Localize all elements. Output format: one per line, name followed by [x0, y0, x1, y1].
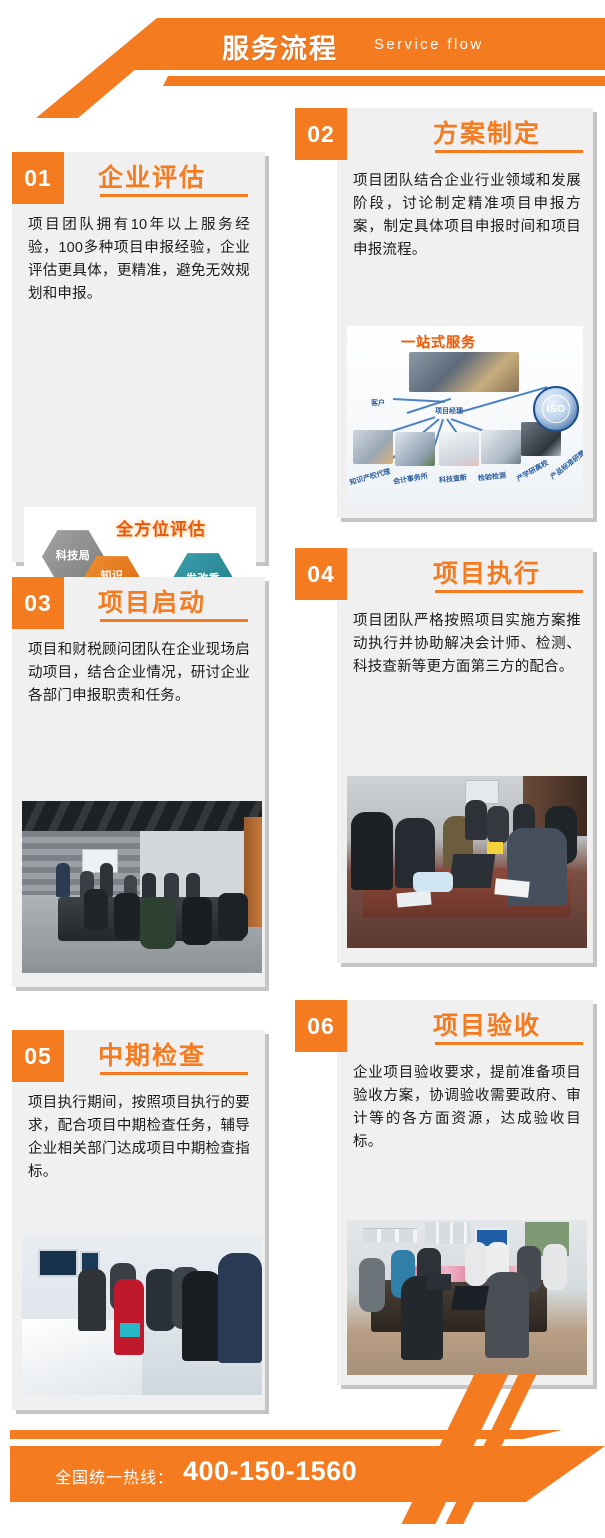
card-description: 项目团队拥有10年以上服务经验，100多种项目申报经验，企业评估更具体，更精准，… [28, 214, 250, 306]
page-footer: 全国统一热线： 400-150-1560 [0, 1406, 605, 1538]
person-foreground [485, 1272, 529, 1358]
card-description: 企业项目验收要求，提前准备项目验收方案，协调验收需要政府、审计等的各方面资源，达… [353, 1062, 581, 1154]
person-silhouette [543, 1244, 567, 1290]
person-black-jacket [182, 1271, 222, 1361]
person-silhouette [142, 873, 156, 899]
person-green-coat [140, 897, 176, 949]
brochure [120, 1323, 140, 1337]
chair [218, 893, 248, 939]
person-silhouette [56, 863, 70, 897]
one-stop-service-diagram: 一站式服务 客户 项目经理 知识产权代理 会计事务所 科技查新 检验检测 产学研… [347, 326, 583, 506]
card-title: 方案制定 [433, 114, 541, 150]
one-stop-node-label-4: 检验检测 [478, 471, 507, 484]
person-blue-jacket [218, 1253, 262, 1363]
chair [84, 889, 108, 931]
person-red-coat [114, 1279, 144, 1355]
paper-sheet [396, 891, 431, 908]
wall-certificates [425, 1222, 471, 1244]
card-title: 项目执行 [433, 554, 541, 590]
title-underline [435, 590, 583, 593]
meeting-laptops-photo [347, 776, 587, 948]
person-silhouette [487, 806, 509, 844]
card-title: 项目启动 [98, 583, 206, 619]
ceiling-pattern [22, 801, 262, 831]
process-card-02: 02 方案制定 项目团队结合企业行业领域和发展阶段，讨论制定精准项目申报方案，制… [337, 108, 593, 518]
one-stop-node-label-2: 会计事务所 [392, 471, 428, 487]
one-stop-node-image-4 [481, 430, 521, 464]
process-card-05: 05 中期检查 项目执行期间，按照项目执行的要求，配合项目中期检查任务，辅导企业… [12, 1030, 265, 1410]
paper-sheet [494, 878, 529, 897]
title-underline [435, 150, 583, 153]
chair [182, 897, 212, 945]
card-description: 项目和财税顾问团队在企业现场启动项目，结合企业情况，研讨企业各部门申报职责和任务… [28, 639, 250, 708]
card-number-badge: 01 [12, 152, 64, 204]
one-stop-team-photo [409, 352, 519, 392]
boardroom-presentation-photo [347, 1220, 587, 1375]
person-silhouette [78, 1269, 106, 1331]
page-title: 服务流程 [222, 27, 338, 66]
page-header: 服务流程 Service flow [0, 0, 605, 100]
card-number-badge: 05 [12, 1030, 64, 1082]
card-title: 项目验收 [433, 1006, 541, 1042]
card-description: 项目团队结合企业行业领域和发展阶段，讨论制定精准项目申报方案，制定具体项目申报时… [353, 170, 581, 262]
card-description: 项目执行期间，按照项目执行的要求，配合项目中期检查任务，辅导企业相关部门达成项目… [28, 1092, 250, 1184]
laptop [451, 1286, 489, 1310]
card-description: 项目团队严格按照项目实施方案推动执行并协助解决会计师、检测、科技查新等更方面第三… [353, 610, 581, 679]
iso-seal-label: ISO [542, 395, 570, 423]
person-silhouette [186, 873, 200, 899]
wall-certificates [363, 1228, 417, 1242]
card-number-badge: 03 [12, 577, 64, 629]
iso-seal-icon: ISO [533, 386, 579, 432]
card-number-badge: 04 [295, 548, 347, 600]
process-card-01: 01 企业评估 项目团队拥有10年以上服务经验，100多种项目申报经验，企业评估… [12, 152, 265, 562]
footer-stripe-decoration [10, 1430, 605, 1439]
hexagon-title: 全方位评估 [116, 515, 206, 540]
one-stop-node-label-1: 知识产权代理 [348, 466, 391, 487]
person-silhouette [351, 812, 393, 890]
person-silhouette [465, 1242, 487, 1286]
person-silhouette [164, 873, 179, 899]
card-number-badge: 06 [295, 1000, 347, 1052]
one-stop-node-image-2 [395, 432, 435, 466]
chair [114, 893, 140, 939]
title-underline [435, 1042, 583, 1045]
process-card-06: 06 项目验收 企业项目验收要求，提前准备项目验收方案，协调验收需要政府、审计等… [337, 1000, 593, 1385]
page-subtitle: Service flow [374, 36, 484, 53]
display-screen [38, 1249, 78, 1277]
equipment-case [413, 872, 453, 892]
hotline-label: 全国统一热线： [55, 1464, 174, 1488]
one-stop-node-image-1 [353, 430, 393, 464]
laptop [427, 1274, 451, 1290]
conference-room-photo [22, 801, 262, 973]
card-title: 中期检查 [98, 1036, 206, 1072]
hotline-number: 400-150-1560 [183, 1456, 357, 1487]
one-stop-title: 一站式服务 [401, 332, 476, 352]
sticky-note [487, 842, 503, 854]
title-underline [100, 194, 248, 197]
card-number-badge: 02 [295, 108, 347, 160]
one-stop-client-label: 客户 [371, 398, 385, 408]
title-underline [100, 1072, 248, 1075]
one-stop-node-label-3: 科技查新 [439, 473, 468, 486]
laptop [449, 854, 496, 888]
person-silhouette [465, 800, 487, 840]
process-card-03: 03 项目启动 项目和财税顾问团队在企业现场启动项目，结合企业情况，研讨企业各部… [12, 577, 265, 987]
one-stop-node-image-3 [439, 432, 479, 466]
person-silhouette [359, 1258, 385, 1312]
process-card-04: 04 项目执行 项目团队严格按照项目实施方案推动执行并协助解决会计师、检测、科技… [337, 548, 593, 963]
title-underline [100, 619, 248, 622]
card-title: 企业评估 [98, 158, 206, 194]
site-visit-photo [22, 1235, 262, 1395]
hexagon-node-label: 科技局 [56, 550, 91, 563]
